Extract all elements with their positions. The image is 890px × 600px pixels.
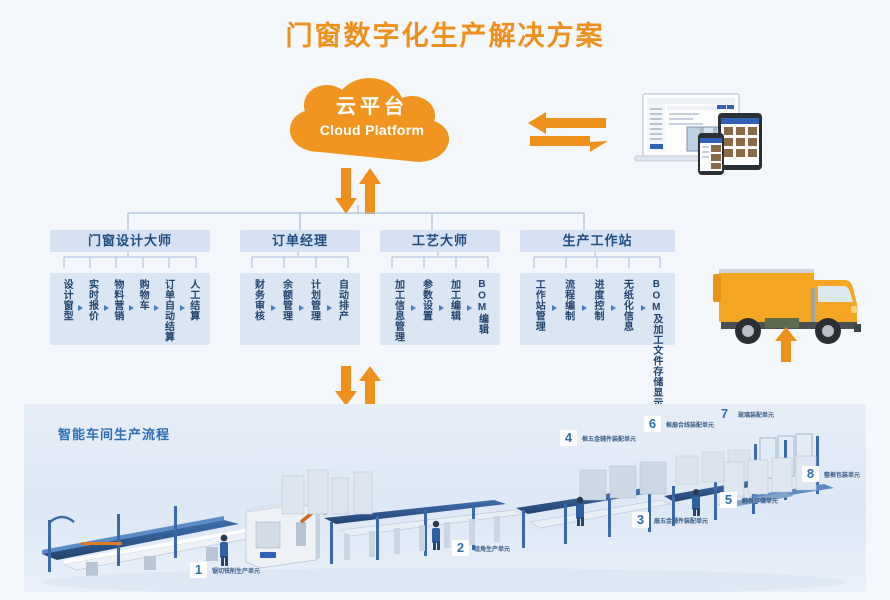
unit-label: 组角生产单元 — [474, 544, 510, 553]
unit-number: 2 — [452, 540, 469, 556]
module-production-workstation[interactable]: 生产工作站 工作站管理 流程编制 进度控制 无纸化信息 文件存储显示 — [520, 230, 675, 345]
module-item[interactable]: 物料营销 — [105, 279, 130, 341]
poster-stage: 门窗数字化生产解决方案 云平台 Cloud Platform — [0, 0, 890, 600]
module-item-double: 文件存储显示 BOM及加工 — [651, 279, 662, 408]
module-title: 订单经理 — [240, 230, 360, 252]
module-item[interactable]: 工作站管理 — [524, 279, 553, 341]
unit-label: 整框包装单元 — [824, 470, 860, 479]
unit-tag-5: 5 翻框存储单元 — [720, 492, 778, 508]
module-title: 工艺大师 — [380, 230, 500, 252]
module-items: 设计窗型 实时报价 物料营销 购物车 订单自动结算 人工结算 — [50, 273, 210, 345]
module-item[interactable]: 无纸化信息 — [612, 279, 641, 341]
module-item[interactable]: 流程编制 — [553, 279, 582, 341]
module-item[interactable]: 加工编辑 — [440, 279, 468, 341]
module-item[interactable]: 订单自动结算 — [155, 279, 180, 341]
module-item[interactable]: 文件存储显示 BOM及加工 — [642, 279, 671, 341]
cloud-icon — [262, 78, 482, 162]
delivery-truck-icon — [705, 258, 870, 363]
unit-tag-3: 3 扇五金辅件装配单元 — [632, 512, 708, 528]
cloud-devices-arrow-pair — [528, 112, 608, 158]
module-item[interactable]: 设计窗型 — [54, 279, 79, 341]
unit-tag-7: 7 玻璃装配单元 — [716, 406, 774, 422]
module-branch-lines — [380, 252, 500, 268]
unit-number: 1 — [190, 562, 207, 578]
unit-number: 8 — [802, 466, 819, 482]
module-title: 门窗设计大师 — [50, 230, 210, 252]
module-item[interactable]: 人工结算 — [181, 279, 206, 341]
module-process-master[interactable]: 工艺大师 加工信息管理 参数设置 加工编辑 BOM编辑 — [380, 230, 500, 345]
module-item[interactable]: 参数设置 — [412, 279, 440, 341]
page-title: 门窗数字化生产解决方案 — [0, 14, 890, 53]
module-item[interactable]: 计划管理 — [300, 279, 328, 341]
module-item[interactable]: 进度控制 — [583, 279, 612, 341]
module-item[interactable]: 余额管理 — [272, 279, 300, 341]
unit-tag-2: 2 组角生产单元 — [452, 540, 510, 556]
unit-number: 3 — [632, 512, 649, 528]
workshop-panel: 智能车间生产流程 — [24, 404, 866, 592]
module-item[interactable]: 实时报价 — [79, 279, 104, 341]
unit-tag-8: 8 整框包装单元 — [802, 466, 860, 482]
devices-mockup-icon — [625, 85, 770, 175]
module-order-manager[interactable]: 订单经理 财务审核 余额管理 计划管理 自动排产 — [240, 230, 360, 345]
module-items: 财务审核 余额管理 计划管理 自动排产 — [240, 273, 360, 345]
unit-label: 框扇合线装配单元 — [666, 420, 714, 429]
unit-number: 6 — [644, 416, 661, 432]
module-items: 工作站管理 流程编制 进度控制 无纸化信息 文件存储显示 BOM及加工 — [520, 273, 675, 345]
unit-number: 5 — [720, 492, 737, 508]
unit-number: 7 — [716, 406, 733, 422]
unit-label: 玻璃装配单元 — [738, 410, 774, 419]
unit-label: 锯切铣削生产单元 — [212, 566, 260, 575]
cloud-platform-node: 云平台 Cloud Platform — [262, 78, 482, 162]
unit-number: 4 — [560, 430, 577, 446]
module-design-master[interactable]: 门窗设计大师 设计窗型 实时报价 物料营销 购物车 订单自动结算 人工结算 — [50, 230, 210, 345]
module-item[interactable]: 加工信息管理 — [384, 279, 412, 341]
modules-workshop-arrow-pair — [335, 366, 381, 406]
unit-3-4-graphic — [516, 462, 670, 548]
module-branch-lines — [520, 252, 675, 268]
unit-tag-1: 1 锯切铣削生产单元 — [190, 562, 260, 578]
unit-tag-6: 6 框扇合线装配单元 — [644, 416, 714, 432]
unit-label: 框五金辅件装配单元 — [582, 434, 636, 443]
module-branch-lines — [50, 252, 210, 268]
module-item[interactable]: 购物车 — [130, 279, 155, 341]
module-title: 生产工作站 — [520, 230, 675, 252]
rack-graphic — [282, 470, 372, 514]
unit-label: 翻框存储单元 — [742, 496, 778, 505]
unit-label: 扇五金辅件装配单元 — [654, 516, 708, 525]
module-item[interactable]: 自动排产 — [328, 279, 356, 341]
module-items: 加工信息管理 参数设置 加工编辑 BOM编辑 — [380, 273, 500, 345]
module-branch-lines — [240, 252, 360, 268]
module-item[interactable]: 财务审核 — [244, 279, 272, 341]
module-item[interactable]: BOM编辑 — [468, 279, 496, 341]
unit-tag-4: 4 框五金辅件装配单元 — [560, 430, 636, 446]
